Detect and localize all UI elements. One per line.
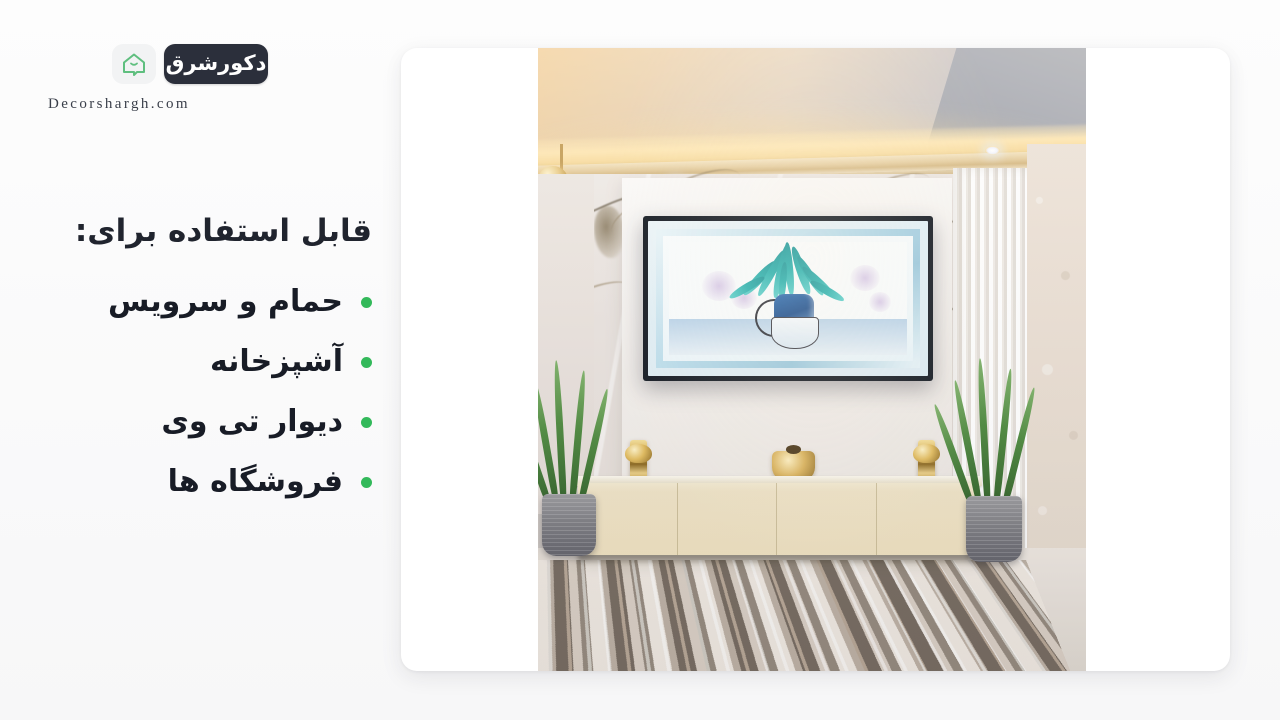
brand-block: دکورشرق Decorshargh.com [48, 44, 268, 113]
list-item: حمام و سرویس [20, 272, 372, 332]
tv-screen [648, 221, 928, 376]
list-item: دیوار تی وی [20, 392, 372, 452]
artwork-canvas [669, 242, 907, 355]
wall-mounted-tv [643, 216, 933, 381]
interior-photo [538, 48, 1086, 671]
patterned-rug [538, 560, 1073, 671]
ceiling-spotlight [985, 146, 1000, 155]
bullet-dot-icon [361, 477, 372, 488]
plant-pot [542, 494, 596, 556]
artwork-leaf [809, 279, 846, 304]
artwork-blossom [869, 292, 891, 312]
brand-logo-row: دکورشرق [48, 44, 268, 84]
artwork-vase-body [771, 317, 819, 349]
list-item: فروشگاه ها [20, 452, 372, 512]
tv-console [578, 483, 976, 555]
left-content-column: دکورشرق Decorshargh.com قابل استفاده برا… [0, 0, 400, 720]
bullet-dot-icon [361, 297, 372, 308]
marble-vein-cluster [594, 206, 624, 258]
list-item-label: دیوار تی وی [161, 407, 343, 437]
artwork-blossom [850, 265, 880, 291]
brand-logo-mark [112, 44, 156, 84]
textured-side-wall [1027, 144, 1086, 614]
media-card [401, 48, 1230, 671]
brand-website: Decorshargh.com [48, 96, 268, 113]
plant-pot [966, 496, 1022, 562]
bullet-dot-icon [361, 357, 372, 368]
list-item-label: فروشگاه ها [168, 467, 343, 497]
list-item-label: حمام و سرویس [108, 287, 343, 317]
artwork-frame [656, 229, 920, 368]
home-smile-icon [121, 52, 147, 76]
page-title: قابل استفاده برای: [20, 212, 372, 251]
console-door[interactable] [777, 483, 877, 555]
console-door[interactable] [877, 483, 977, 555]
feature-list: حمام و سرویس آشپزخانه دیوار تی وی فروشگا… [20, 272, 372, 512]
list-item-label: آشپزخانه [210, 347, 343, 377]
interior-scene [538, 48, 1086, 671]
console-door[interactable] [678, 483, 778, 555]
list-item: آشپزخانه [20, 332, 372, 392]
brand-logo-text: دکورشرق [166, 53, 267, 74]
bullet-dot-icon [361, 417, 372, 428]
slide-root: دکورشرق Decorshargh.com قابل استفاده برا… [0, 0, 1280, 720]
chandelier-rod [560, 144, 563, 170]
brand-logo-badge: دکورشرق [164, 44, 268, 84]
